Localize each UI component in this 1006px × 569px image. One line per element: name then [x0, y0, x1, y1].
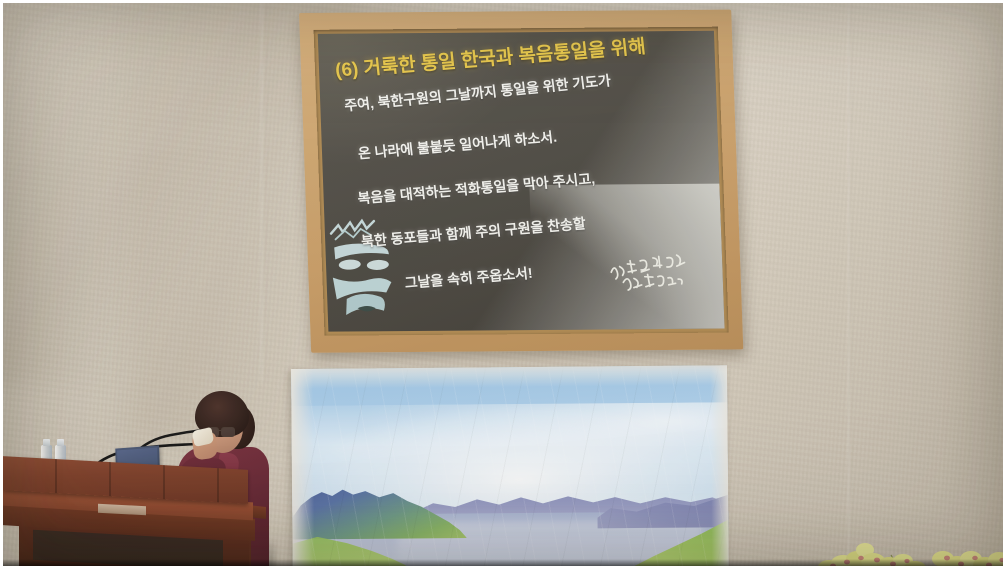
banner-top-fade — [291, 365, 727, 389]
mount-paektu-banner — [291, 365, 729, 566]
slide-handwriting-signature — [607, 250, 697, 299]
slide-line-3: 복음을 대적하는 적화통일을 막아 주시고, — [357, 168, 596, 208]
slide-line-4: 북한 동포들과 함께 주의 구원을 찬송할 — [360, 213, 587, 251]
banner-fabric-creases — [291, 365, 729, 566]
handwriting-svg — [607, 250, 697, 299]
banner-right-edge — [710, 365, 729, 566]
wooden-pulpit — [3, 443, 278, 566]
slide-line-2: 온 나라에 불붙듯 일어나게 하소서. — [357, 127, 558, 164]
screen-projection-surface: (6) 거룩한 통일 한국과 복음통일을 위해 주여, 북한구원의 그날까지 통… — [318, 31, 725, 332]
slide-line-5: 그날을 속히 주옵소서! — [404, 263, 534, 293]
photograph: (6) 거룩한 통일 한국과 복음통일을 위해 주여, 북한구원의 그날까지 통… — [3, 3, 1003, 566]
screenshot-stage: (6) 거룩한 통일 한국과 복음통일을 위해 주여, 북한구원의 그날까지 통… — [0, 0, 1006, 569]
eyeglass-lens-right — [221, 427, 235, 437]
banner-left-edge — [291, 369, 315, 566]
projection-screen: (6) 거룩한 통일 한국과 복음통일을 위해 주여, 북한구원의 그날까지 통… — [299, 10, 743, 353]
wall-right-shading — [703, 3, 1003, 566]
photo-bottom-shadow — [3, 559, 1003, 566]
wall-seam-left — [261, 3, 265, 383]
